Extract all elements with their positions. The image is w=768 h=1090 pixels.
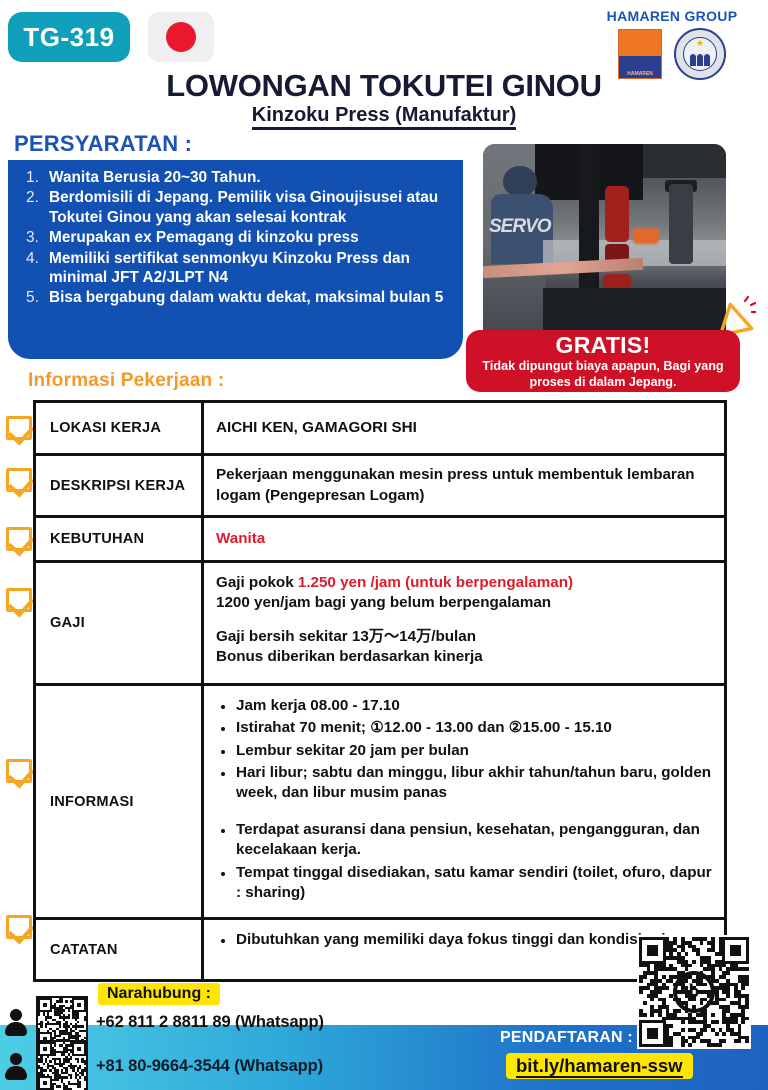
checkbox-icon-kebutuhan — [6, 527, 32, 551]
registration-label: PENDAFTARAN : — [500, 1029, 633, 1047]
phone-number-2[interactable]: +81 80-9664-3544 (Whatsapp) — [96, 1057, 323, 1076]
free-note: Tidak dipungut biaya apapun, Bagi yang p… — [466, 359, 740, 390]
informasi-item: Jam kerja 08.00 - 17.10 — [216, 696, 712, 716]
free-headline: GRATIS! — [466, 333, 740, 358]
photo-machine-brand-text: SERVO — [489, 216, 551, 238]
registration-link-text: bit.ly/hamaren-ssw — [516, 1055, 683, 1078]
informasi-item: Lembur sekitar 20 jam per bulan — [216, 741, 712, 761]
photo-worker-head — [503, 166, 537, 196]
row-label-lokasi: LOKASI KERJA — [36, 403, 204, 453]
informasi-item: Terdapat asuransi dana pensiun, kesehata… — [216, 820, 712, 861]
row-label-kebutuhan: KEBUTUHAN — [36, 518, 204, 560]
requirement-item: Bisa bergabung dalam waktu dekat, maksim… — [26, 288, 449, 307]
requirement-item: Wanita Berusia 20~30 Tahun. — [26, 168, 449, 187]
gaji-line-2: 1200 yen/jam bagi yang belum berpengalam… — [216, 593, 712, 613]
gaji-line-1: Gaji pokok 1.250 yen /jam (untuk berpeng… — [216, 573, 712, 593]
people-icon — [690, 54, 710, 66]
checkbox-icon-catatan — [6, 915, 32, 939]
flyer-page: TG-319 HAMAREN GROUP HAMAREN ★ LOWONGAN … — [0, 0, 768, 1090]
star-icon: ★ — [696, 39, 704, 48]
checkbox-icon-lokasi — [6, 416, 32, 440]
row-value-informasi: Jam kerja 08.00 - 17.10 Istirahat 70 men… — [204, 686, 724, 917]
gaji-rate-highlight: 1.250 yen /jam (untuk berpengalaman) — [298, 574, 573, 591]
table-row-gaji: GAJI Gaji pokok 1.250 yen /jam (untuk be… — [36, 563, 724, 686]
table-row-catatan: CATATAN Dibutuhkan yang memiliki daya fo… — [36, 920, 724, 982]
page-title: LOWONGAN TOKUTEI GINOU — [0, 68, 768, 104]
row-label-gaji: GAJI — [36, 563, 204, 683]
page-subtitle-text: Kinzoku Press (Manufaktur) — [252, 104, 516, 130]
person-icon — [4, 1008, 28, 1036]
checkbox-icon-gaji — [6, 588, 32, 612]
checkbox-icon-informasi — [6, 759, 32, 783]
row-label-catatan: CATATAN — [36, 920, 204, 979]
informasi-item: Hari libur; sabtu dan minggu, libur akhi… — [216, 763, 712, 804]
informasi-item: Istirahat 70 menit; ①12.00 - 13.00 dan ②… — [216, 718, 712, 738]
table-row-informasi: INFORMASI Jam kerja 08.00 - 17.10 Istira… — [36, 686, 724, 920]
job-info-heading: Informasi Pekerjaan : — [28, 370, 224, 392]
free-process-banner: GRATIS! Tidak dipungut biaya apapun, Bag… — [466, 330, 740, 392]
requirements-box: Wanita Berusia 20~30 Tahun. Berdomisili … — [8, 160, 463, 359]
gaji-spacer — [216, 613, 712, 627]
row-value-lokasi: AICHI KEN, GAMAGORI SHI — [204, 403, 724, 453]
gaji-line-3: Gaji bersih sekitar 13万～14万/bulan — [216, 627, 712, 647]
requirements-list: Wanita Berusia 20~30 Tahun. Berdomisili … — [26, 168, 449, 308]
row-value-deskripsi: Pekerjaan menggunakan mesin press untuk … — [204, 456, 724, 515]
gaji-prefix: Gaji pokok — [216, 574, 298, 591]
table-row-kebutuhan: KEBUTUHAN Wanita — [36, 518, 724, 563]
flag-disc — [166, 22, 196, 52]
registration-link[interactable]: bit.ly/hamaren-ssw — [506, 1053, 693, 1079]
row-value-kebutuhan: Wanita — [204, 518, 724, 560]
informasi-list-a: Jam kerja 08.00 - 17.10 Istirahat 70 men… — [216, 696, 712, 804]
row-label-informasi: INFORMASI — [36, 686, 204, 917]
informasi-spacer — [216, 806, 712, 820]
page-subtitle: Kinzoku Press (Manufaktur) — [0, 104, 768, 127]
photo-red-cylinder-top — [605, 186, 629, 242]
informasi-list-b: Terdapat asuransi dana pensiun, kesehata… — [216, 820, 712, 903]
requirements-heading: PERSYARATAN : — [14, 131, 192, 157]
requirement-item: Merupakan ex Pemagang di kinzoku press — [26, 228, 449, 247]
logo-top-shape — [619, 30, 661, 56]
machine-photo: SERVO — [483, 144, 726, 340]
requirement-item: Berdomisili di Jepang. Pemilik visa Gino… — [26, 188, 449, 227]
person-icon — [4, 1052, 28, 1080]
contact-row-2[interactable]: +81 80-9664-3544 (Whatsapp) — [4, 1040, 323, 1090]
requirement-item: Memiliki sertifikat senmonkyu Kinzoku Pr… — [26, 249, 449, 288]
photo-press-head-2 — [643, 144, 726, 178]
job-code-badge: TG-319 — [8, 12, 130, 62]
qr-code-whatsapp-2[interactable] — [36, 1040, 88, 1090]
checkbox-icon-deskripsi — [6, 468, 32, 492]
japan-flag-icon — [148, 12, 214, 62]
photo-hot-metal — [633, 228, 659, 244]
row-label-deskripsi: DESKRIPSI KERJA — [36, 456, 204, 515]
job-info-table: LOKASI KERJA AICHI KEN, GAMAGORI SHI DES… — [33, 400, 727, 982]
informasi-item: Tempat tinggal disediakan, satu kamar se… — [216, 863, 712, 904]
job-code-text: TG-319 — [23, 22, 114, 53]
photo-steel-cylinder — [669, 184, 693, 264]
gaji-line-4: Bonus diberikan berdasarkan kinerja — [216, 647, 712, 667]
row-value-gaji: Gaji pokok 1.250 yen /jam (untuk berpeng… — [204, 563, 724, 683]
table-row-deskripsi: DESKRIPSI KERJA Pekerjaan menggunakan me… — [36, 456, 724, 518]
phone-number-1[interactable]: +62 811 2 8811 89 (Whatsapp) — [96, 1013, 324, 1032]
table-row-lokasi: LOKASI KERJA AICHI KEN, GAMAGORI SHI — [36, 403, 724, 456]
qr-code-registration[interactable]: b — [637, 935, 751, 1049]
brand-name: HAMAREN GROUP — [584, 8, 760, 24]
